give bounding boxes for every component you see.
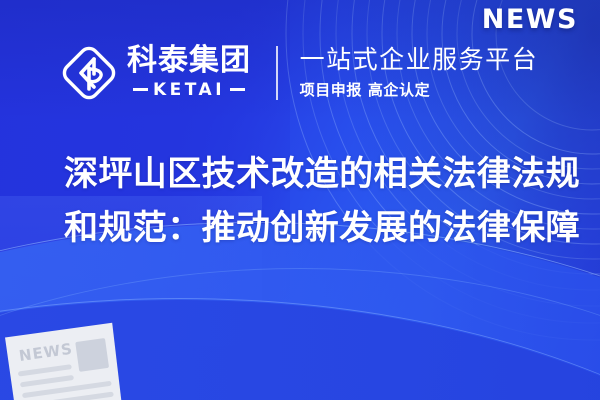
brand-tagline: 一站式企业服务平台 项目申报 高企认定 (300, 46, 539, 101)
article-title-line-1: 深坪山区技术改造的相关法律法规 (64, 148, 574, 202)
brand-wordmark: 科泰集团 KETAI (127, 46, 251, 100)
brand-logo: 科泰集团 KETAI (60, 44, 251, 102)
tagline-primary: 一站式企业服务平台 (300, 46, 539, 75)
brand-name-cn: 科泰集团 (127, 46, 251, 77)
brand-name-en-row: KETAI (127, 80, 251, 100)
article-title: 深坪山区技术改造的相关法律法规 和规范：推动创新发展的法律保障 (64, 148, 574, 255)
news-badge: NEWS (482, 4, 578, 35)
article-title-line-2: 和规范：推动创新发展的法律保障 (64, 202, 574, 256)
brand-name-en: KETAI (153, 80, 225, 100)
header-divider (276, 46, 278, 100)
wordmark-dash-left (133, 88, 148, 91)
news-banner: NEWS 科泰集团 KETAI (0, 0, 600, 400)
tagline-secondary: 项目申报 高企认定 (300, 79, 539, 100)
ketai-kp-monogram-icon (60, 44, 118, 102)
banner-header: 科泰集团 KETAI 一站式企业服务平台 项目申报 高企认定 (0, 34, 600, 112)
wordmark-dash-right (230, 88, 245, 91)
